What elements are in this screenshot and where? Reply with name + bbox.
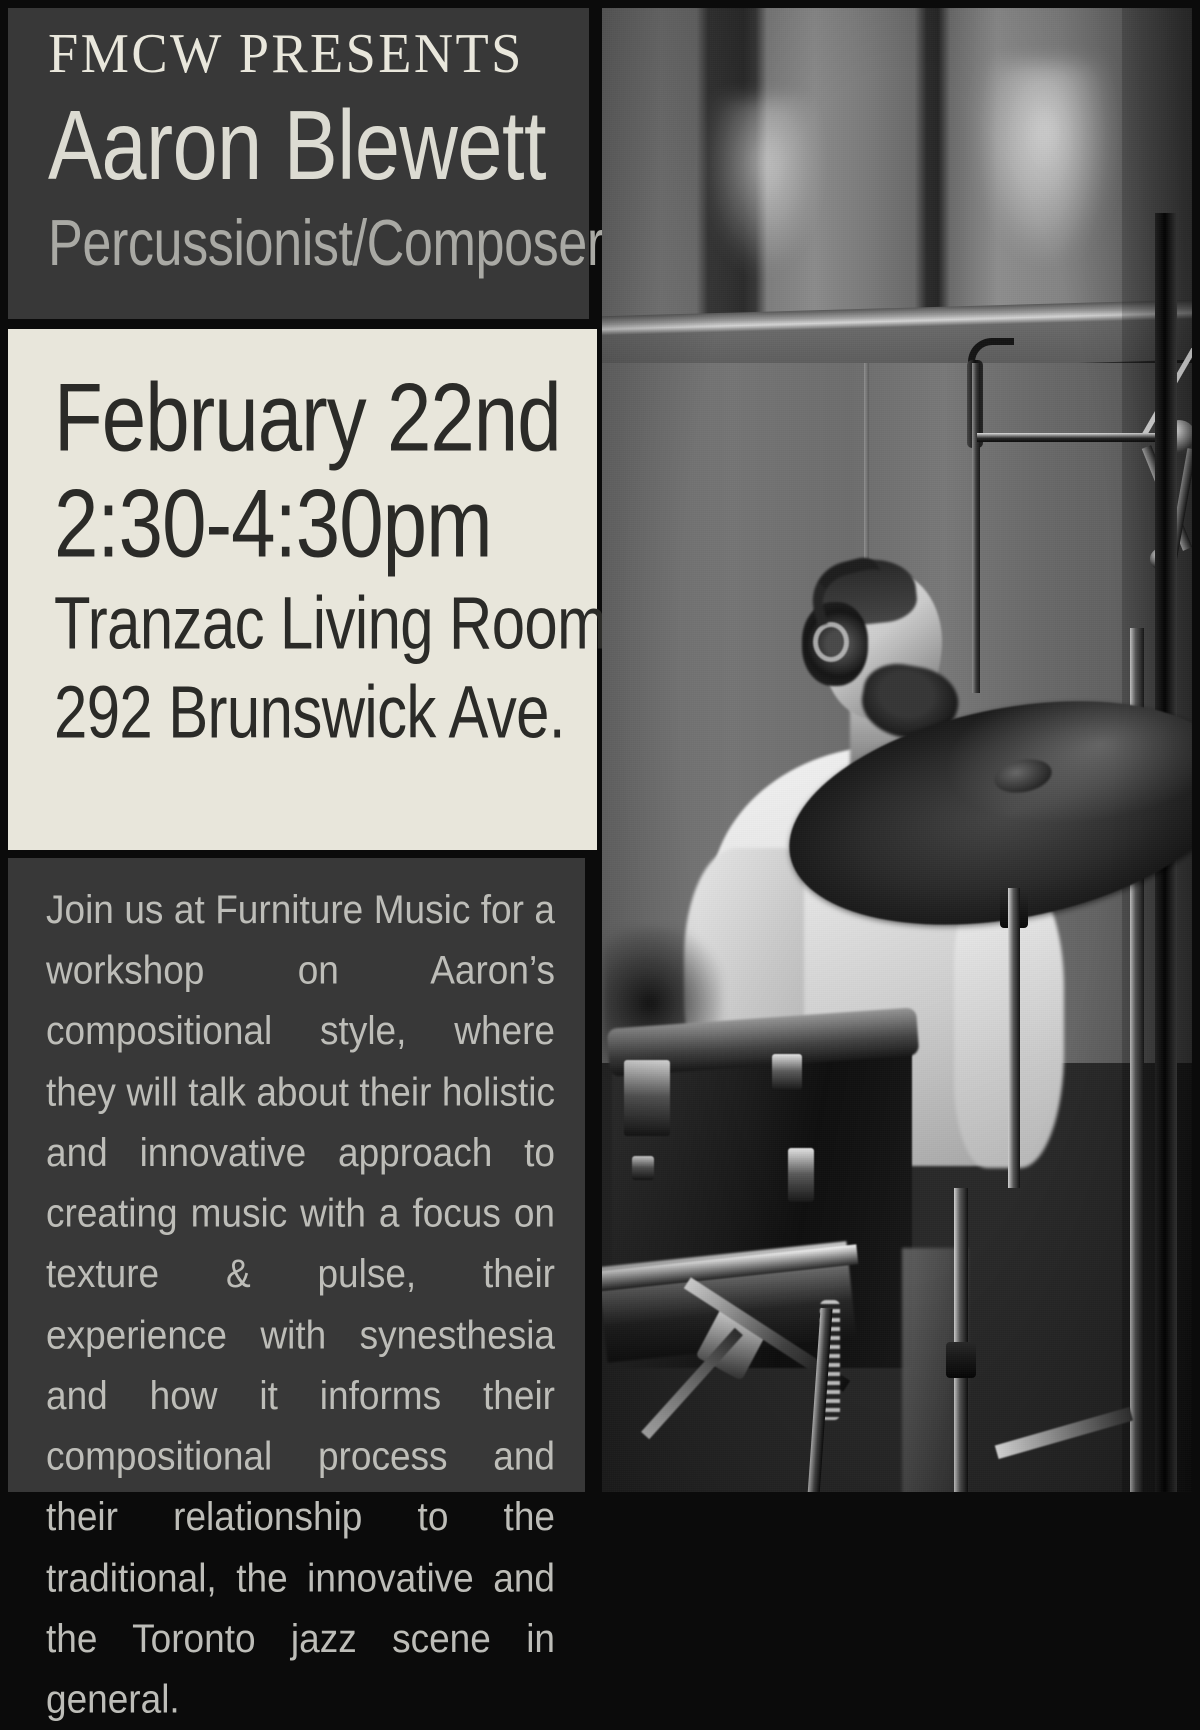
- event-time: 2:30-4:30pm: [54, 475, 570, 572]
- artist-name: Aaron Blewett: [48, 94, 546, 196]
- description-panel: Join us at Furniture Music for a worksho…: [8, 858, 585, 1492]
- presenter-label: FMCW PRESENTS: [48, 26, 573, 82]
- drum-lug: [788, 1148, 814, 1202]
- event-poster: FMCW PRESENTS Aaron Blewett Percussionis…: [0, 0, 1200, 1500]
- hihat-stand-rod: [954, 1188, 968, 1492]
- artist-role: Percussionist/Composer: [48, 211, 535, 276]
- wall-light-glow: [972, 63, 1122, 273]
- hihat-clutch: [946, 1342, 976, 1378]
- event-date: February 22nd: [54, 369, 570, 466]
- drum-lug: [632, 1156, 654, 1180]
- drum-lug: [624, 1060, 670, 1136]
- hihat-pedal-arm: [995, 1407, 1133, 1459]
- headphones-ring: [813, 622, 849, 662]
- cymbal-stand-shaft: [1008, 888, 1020, 1188]
- wall-light-glow: [702, 98, 822, 278]
- event-venue: Tranzac Living Room: [54, 587, 570, 661]
- event-address: 292 Brunswick Ave.: [54, 676, 570, 750]
- text-column: FMCW PRESENTS Aaron Blewett Percussionis…: [8, 8, 597, 1492]
- description-body: Join us at Furniture Music for a worksho…: [46, 880, 555, 1730]
- photo-scene: [602, 8, 1192, 1492]
- header-panel: FMCW PRESENTS Aaron Blewett Percussionis…: [8, 8, 589, 319]
- drum-lug: [772, 1054, 802, 1090]
- performer-photo: [602, 8, 1192, 1492]
- event-details-panel: February 22nd 2:30-4:30pm Tranzac Living…: [8, 329, 597, 850]
